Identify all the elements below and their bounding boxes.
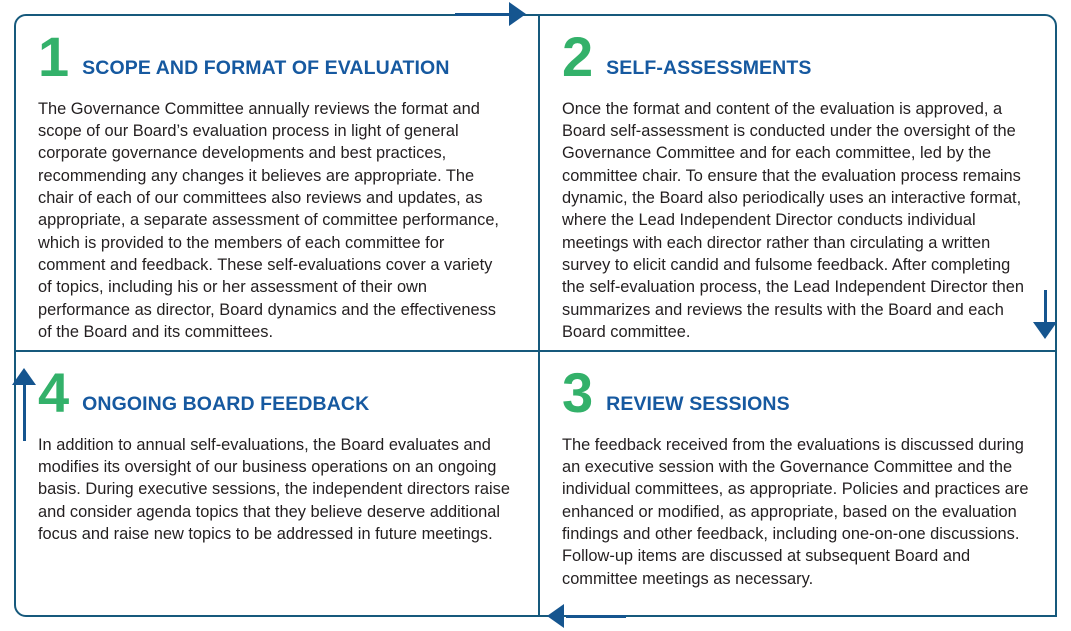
- connector-line-1-to-2: [455, 13, 513, 16]
- arrow-left-icon: [547, 604, 564, 628]
- step-panel-2: 2 SELF-ASSESSMENTS Once the format and c…: [538, 14, 1057, 352]
- step-panel-3-content: 3 REVIEW SESSIONS The feedback received …: [540, 352, 1055, 590]
- step-1-number: 1: [38, 34, 68, 80]
- arrow-down-icon: [1033, 322, 1057, 339]
- step-3-heading: 3 REVIEW SESSIONS: [562, 370, 1029, 417]
- step-4-number: 4: [38, 370, 68, 416]
- step-panel-1: 1 SCOPE AND FORMAT OF EVALUATION The Gov…: [14, 14, 540, 352]
- connector-line-4-to-1: [23, 383, 26, 441]
- connector-line-3-to-4: [566, 615, 626, 618]
- step-2-title: SELF-ASSESSMENTS: [606, 58, 811, 79]
- step-3-body: The feedback received from the evaluatio…: [562, 434, 1029, 590]
- step-3-title: REVIEW SESSIONS: [606, 394, 790, 415]
- step-panel-3: 3 REVIEW SESSIONS The feedback received …: [538, 350, 1057, 617]
- step-4-heading: 4 ONGOING BOARD FEEDBACK: [38, 370, 512, 417]
- step-panel-2-content: 2 SELF-ASSESSMENTS Once the format and c…: [540, 16, 1055, 343]
- board-evaluation-cycle-diagram: 1 SCOPE AND FORMAT OF EVALUATION The Gov…: [0, 0, 1071, 631]
- arrow-right-icon: [509, 2, 526, 26]
- step-2-number: 2: [562, 34, 592, 80]
- step-1-title: SCOPE AND FORMAT OF EVALUATION: [82, 58, 449, 79]
- step-panel-4: 4 ONGOING BOARD FEEDBACK In addition to …: [14, 350, 540, 617]
- arrow-up-icon: [12, 368, 36, 385]
- step-panel-4-content: 4 ONGOING BOARD FEEDBACK In addition to …: [16, 352, 538, 545]
- step-2-body: Once the format and content of the evalu…: [562, 98, 1029, 343]
- step-4-title: ONGOING BOARD FEEDBACK: [82, 394, 369, 415]
- step-1-heading: 1 SCOPE AND FORMAT OF EVALUATION: [38, 34, 512, 81]
- step-panel-1-content: 1 SCOPE AND FORMAT OF EVALUATION The Gov…: [16, 16, 538, 343]
- step-4-body: In addition to annual self-evaluations, …: [38, 434, 510, 546]
- step-1-body: The Governance Committee annually review…: [38, 98, 510, 343]
- connector-line-2-to-3: [1044, 290, 1047, 326]
- step-2-heading: 2 SELF-ASSESSMENTS: [562, 34, 1029, 81]
- step-3-number: 3: [562, 370, 592, 416]
